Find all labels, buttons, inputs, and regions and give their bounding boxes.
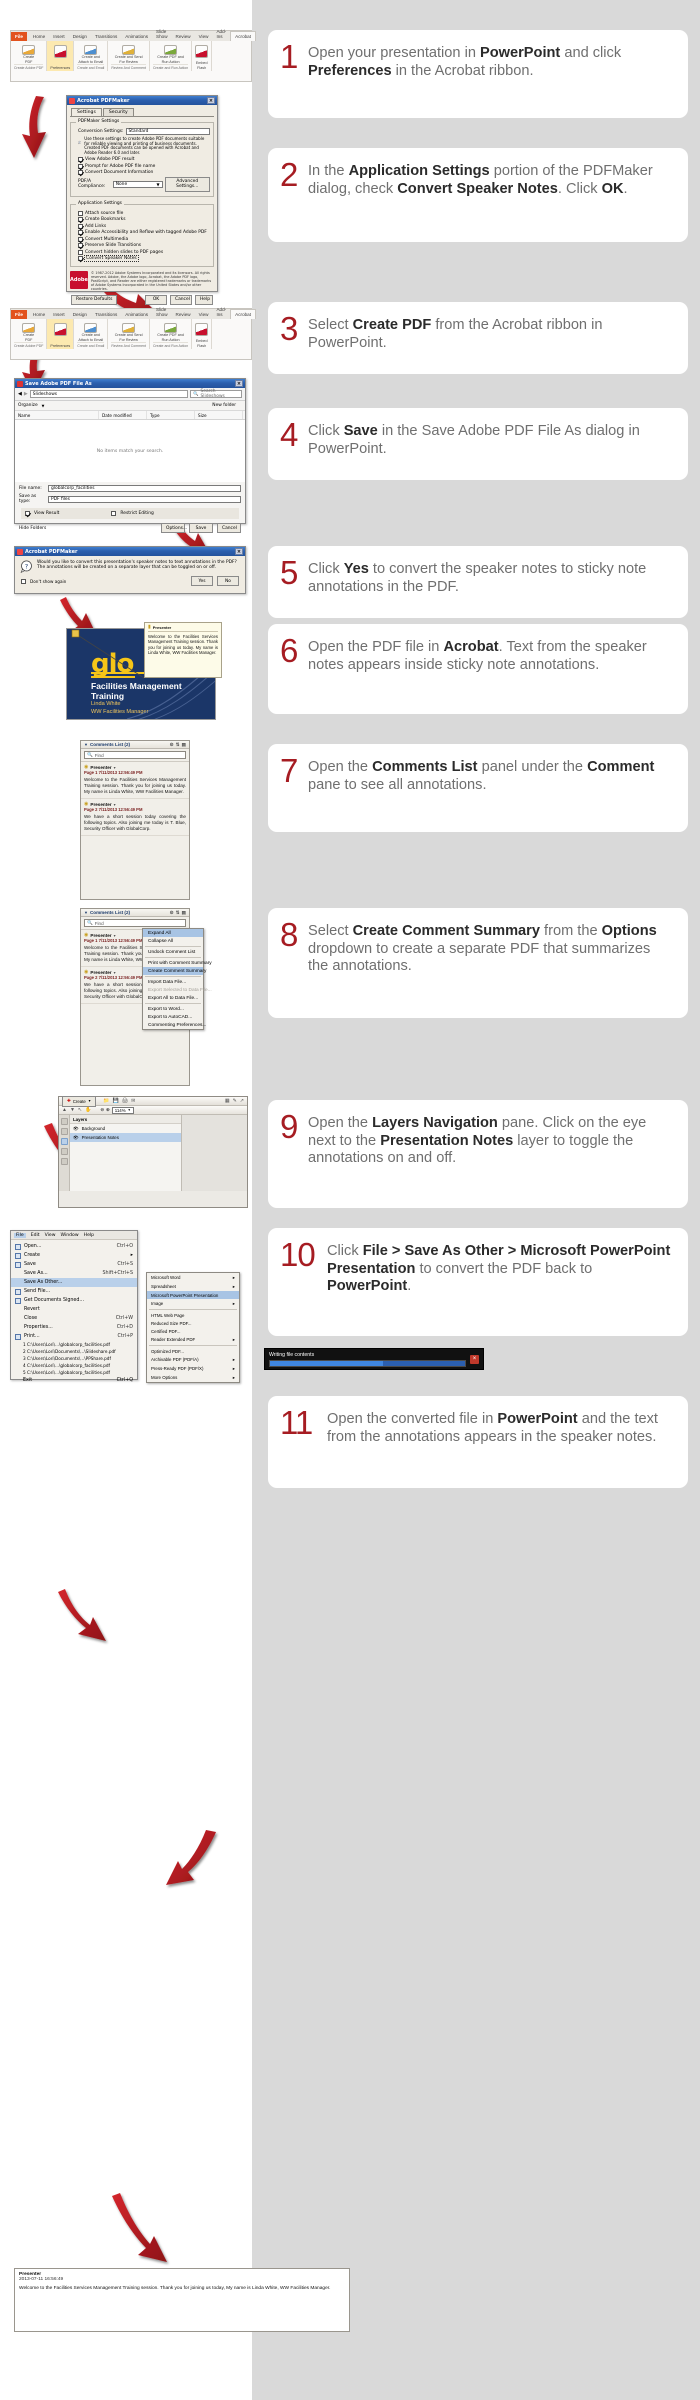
bookmarks-panel-icon[interactable] [61, 1128, 68, 1135]
layers-panel[interactable]: Layers 👁Background👁Presentation Notes [70, 1115, 182, 1191]
menu-item-print-with-comment-summary[interactable]: Print with Comment Summary [143, 959, 203, 967]
explorer-toolbar[interactable]: Organize ▼ New folder [15, 401, 245, 411]
file-menu-item-print[interactable]: Print...Ctrl+P [11, 1332, 137, 1341]
ribbon-tab-design[interactable]: Design [69, 310, 91, 319]
recent-file-item[interactable]: 1 C:\Users\Lori\...\globalcorp_facilitie… [11, 1341, 137, 1348]
comment-author: Presenter [90, 970, 111, 975]
menu-separator [149, 1345, 237, 1346]
submenu-item-html-web-page[interactable]: HTML Web Page [147, 1311, 239, 1319]
menu-item-export-to-autocad[interactable]: Export to AutoCAD... [143, 1013, 203, 1021]
sticky-note-header: ▮ Presenter [148, 625, 218, 632]
open-icon[interactable]: 📁 [103, 1098, 109, 1104]
application-option-7[interactable]: Convert Speaker Notes [78, 256, 210, 261]
ribbon-button-create-pdf-and-run-action[interactable]: Create PDF andRun ActionCreate and Run A… [150, 41, 192, 71]
menu-item-icon [15, 1244, 21, 1250]
back-icon[interactable]: ◀ [18, 391, 22, 397]
ribbon-button-preferences[interactable]: Preferences [47, 319, 74, 349]
recent-file-item[interactable]: 5 C:\Users\Lori\...\globalcorp_facilitie… [11, 1369, 137, 1376]
ribbon-tab-slide-show[interactable]: Slide Show [152, 305, 171, 319]
checkbox[interactable] [78, 250, 83, 255]
menu-item-commenting-preferences[interactable]: Commenting Preferences... [143, 1021, 203, 1029]
acrobat-layers-window[interactable]: ✚ Create ▼ 📁 💾 🖨 ✉ ▦ ✎ ↗ ▲ ▼ ↖ ✋ ⊖ ⊕ 114… [58, 1096, 248, 1208]
restore-defaults-button[interactable]: Restore Defaults [71, 295, 117, 305]
pdfmaker-checkbox-list[interactable]: View Adobe PDF resultPrompt for Adobe PD… [74, 157, 210, 175]
hand-tool-icon[interactable]: ✋ [85, 1107, 91, 1113]
menu-item-label: Get Documents Signed... [24, 1298, 84, 1303]
ribbon-tab-insert[interactable]: Insert [49, 310, 69, 319]
find-input[interactable]: 🔍 Find [84, 919, 186, 927]
application-option-4[interactable]: Convert Multimedia [78, 237, 210, 242]
pdfa-row[interactable]: PDF/A Compliance: None ▼ Advanced Settin… [78, 177, 210, 192]
ribbon-tab-add-ins[interactable]: Add-Ins [212, 305, 230, 319]
save-adobe-pdf-dialog[interactable]: Save Adobe PDF File As × ◀ ▶ Slideshows … [14, 378, 246, 524]
recent-file-item[interactable]: 3 C:\Users\Lori\Documents\...\PPShare.pd… [11, 1355, 137, 1362]
svg-text:?: ? [25, 562, 28, 570]
application-option-1[interactable]: Create Bookmarks [78, 217, 210, 222]
chevron-right-icon: ▸ [233, 1301, 235, 1307]
menubar-item-view[interactable]: View [45, 1233, 56, 1238]
file-menu-item-send-file[interactable]: Send File... [11, 1287, 137, 1296]
submenu-item-microsoft-word[interactable]: Microsoft Word▸ [147, 1273, 239, 1282]
checkbox-label: Prompt for Adobe PDF file name [85, 164, 155, 169]
restrict-editing-checkbox[interactable] [111, 511, 116, 516]
ribbon-tab-design[interactable]: Design [69, 32, 91, 41]
search-input[interactable]: 🔍 Search Slideshows [190, 390, 242, 398]
ribbon-tab-acrobat[interactable]: Acrobat [230, 309, 256, 319]
ribbon-group-caption: Review And Comment [111, 64, 146, 70]
menubar-item-edit[interactable]: Edit [31, 1233, 40, 1238]
submenu-item-reader-extended-pdf[interactable]: Reader Extended PDF▸ [147, 1335, 239, 1344]
submenu-item-optimized-pdf[interactable]: Optimized PDF... [147, 1347, 239, 1355]
chevron-right-icon: ▸ [233, 1284, 235, 1290]
file-menu-item-save-as[interactable]: Save As...Shift+Ctrl+S [11, 1269, 137, 1278]
sort-icon[interactable]: ⇅ [176, 742, 180, 748]
view-result-checkbox[interactable] [25, 511, 30, 516]
ribbon-button-create-pdf[interactable]: CreatePDFCreate Adobe PDF [11, 41, 47, 71]
pdfmaker-option-0[interactable]: View Adobe PDF result [78, 157, 210, 162]
progress-bar [269, 1360, 466, 1367]
pdfa-select[interactable]: None ▼ [113, 181, 163, 188]
submenu-item-certified-pdf[interactable]: Certified PDF... [147, 1327, 239, 1335]
layers-list[interactable]: 👁Background👁Presentation Notes [70, 1124, 181, 1142]
search-icon: 🔍 [87, 920, 93, 926]
cancel-button[interactable]: Cancel [217, 523, 241, 533]
comment-item[interactable]: ◉Presenter▾Page 1 7/11/2013 12:56:49 PMW… [81, 762, 189, 799]
step-callout-5: 5 Click Yes to convert the speaker notes… [268, 546, 688, 618]
file-menu-item-get-documents-signed[interactable]: Get Documents Signed... [11, 1296, 137, 1305]
menu-item-collapse-all[interactable]: Collapse All [143, 937, 203, 945]
acrobat-stage: Layers 👁Background👁Presentation Notes [59, 1115, 247, 1191]
cancel-button[interactable]: Cancel [170, 295, 192, 305]
menu-separator [145, 946, 201, 947]
menu-item-export-all-to-data-file[interactable]: Export All to Data File... [143, 994, 203, 1002]
select-tool-icon[interactable]: ↖ [78, 1107, 82, 1113]
powerpoint-ribbon-top[interactable]: FileHomeInsertDesignTransitionsAnimation… [10, 30, 252, 82]
save-icon[interactable]: 💾 [112, 1098, 118, 1104]
pdf-options-row[interactable]: View Result Restrict Editing [21, 508, 239, 519]
ribbon-tab-review[interactable]: Review [172, 310, 195, 319]
step-callout-6: 6 Open the PDF file in Acrobat. Text fro… [268, 624, 688, 714]
ribbon-button-create-and-attach-to-email[interactable]: Create andAttach to EmailCreate and Emai… [74, 41, 108, 71]
dialog-button-row[interactable]: Restore Defaults OK Cancel Help [71, 295, 213, 305]
acrobat-file-menu-window[interactable]: FileEditViewWindowHelp Open...Ctrl+OCrea… [10, 1230, 138, 1380]
layer-row[interactable]: 👁Background [70, 1124, 181, 1133]
checkbox[interactable] [78, 211, 83, 216]
column-header-name[interactable]: Name [15, 411, 99, 419]
save-as-other-submenu[interactable]: Microsoft Word▸Spreadsheet▸Microsoft Pow… [146, 1272, 240, 1383]
ribbon-tab-acrobat[interactable]: Acrobat [230, 31, 256, 41]
menu-item-shortcut: Ctrl+O [117, 1244, 133, 1249]
pdf-document-icon [54, 323, 67, 336]
print-icon[interactable]: 🖨 [122, 1098, 128, 1104]
comments-toolbar[interactable]: 🔍 Find [81, 749, 189, 762]
no-button[interactable]: No [217, 576, 239, 586]
submenu-item-microsoft-powerpoint-presentation[interactable]: Microsoft PowerPoint Presentation [147, 1291, 239, 1299]
submenu-item-label: Microsoft PowerPoint Presentation [151, 1293, 218, 1298]
submenu-item-image[interactable]: Image▸ [147, 1299, 239, 1308]
recent-file-item[interactable]: 4 C:\Users\Lori\...\globalcorp_facilitie… [11, 1362, 137, 1369]
ribbon-tab-transitions[interactable]: Transitions [91, 32, 121, 41]
dont-show-again-checkbox[interactable] [21, 579, 26, 584]
navigation-rail[interactable] [59, 1115, 70, 1191]
filetype-row[interactable]: Save as type: PDF files [19, 494, 241, 504]
comment-item[interactable]: ◉Presenter▾Page 2 7/11/2013 12:56:49 PMW… [81, 799, 189, 836]
step-text: Open the Layers Navigation pane. Click o… [308, 1112, 674, 1168]
ribbon-button-preferences[interactable]: Preferences [47, 41, 74, 71]
ribbon-button-embed-flash[interactable]: EmbedFlash [192, 41, 212, 71]
pdf-document-icon [54, 45, 67, 58]
ribbon-button-label: Create and SendFor Review [115, 55, 143, 64]
find-input[interactable]: 🔍 Find [84, 751, 186, 759]
ribbon-button-label: CreatePDF [23, 55, 34, 64]
more-icon[interactable]: ▤ [182, 910, 186, 916]
filetype-select[interactable]: PDF files [48, 496, 241, 503]
step-text: Select Create PDF from the Acrobat ribbo… [308, 314, 674, 352]
ribbon-tab-view[interactable]: View [195, 310, 213, 319]
pdf-document-icon [195, 45, 208, 58]
eye-icon[interactable]: 👁 [73, 1126, 79, 1132]
ribbon-buttons[interactable]: CreatePDFCreate Adobe PDFPreferencesCrea… [11, 41, 251, 71]
submenu-item-more-options[interactable]: More Options▸ [147, 1373, 239, 1382]
explorer-address-bar[interactable]: ◀ ▶ Slideshows 🔍 Search Slideshows [15, 388, 245, 401]
ribbon-tab-file[interactable]: File [11, 310, 27, 319]
chevron-down-icon[interactable]: ▼ [84, 910, 88, 915]
file-menu-item-open[interactable]: Open...Ctrl+O [11, 1242, 137, 1251]
menu-item-shortcut: Shift+Ctrl+S [102, 1271, 133, 1276]
filetype-label: Save as type: [19, 494, 45, 504]
help-button[interactable]: Help [195, 295, 213, 305]
ribbon-tab-transitions[interactable]: Transitions [91, 310, 121, 319]
pdf-document-icon [195, 323, 208, 336]
submenu-item-reduced-size-pdf[interactable]: Reduced Size PDF... [147, 1319, 239, 1327]
conversion-settings-select[interactable]: Standard [126, 128, 211, 135]
menu-separator [145, 1003, 201, 1004]
tab-settings[interactable]: Settings [71, 108, 102, 116]
menubar-item-help[interactable]: Help [84, 1233, 94, 1238]
create-button[interactable]: ✚ Create ▼ [62, 1096, 96, 1107]
options-dropdown-menu[interactable]: Expand AllCollapse AllUndock Comment Lis… [142, 928, 204, 1030]
question-icon: ? [20, 560, 33, 573]
filename-row[interactable]: File name: globalcorp_facilities [19, 485, 241, 492]
file-menu-item-revert[interactable]: Revert [11, 1305, 137, 1314]
comments-panel-header[interactable]: ▼ Comments List (2) ⚙ ⇅ ▤ [81, 909, 189, 917]
step-number: 11 [280, 1408, 320, 1438]
checkbox-label: Convert Document Information [85, 170, 153, 175]
submenu-item-label: Microsoft Word [151, 1275, 180, 1280]
column-header-date-modified[interactable]: Date modified [99, 411, 147, 419]
close-icon[interactable]: × [207, 97, 215, 104]
application-checkbox-list[interactable]: Attach source fileCreate BookmarksAdd Li… [74, 211, 210, 262]
chevron-down-icon[interactable]: ▼ [156, 182, 159, 187]
ribbon-button-create-pdf-and-run-action[interactable]: Create PDF andRun ActionCreate and Run A… [150, 319, 192, 349]
submenu-item-spreadsheet[interactable]: Spreadsheet▸ [147, 1282, 239, 1291]
ribbon-group-caption: Create and Run Action [153, 342, 188, 348]
checkbox[interactable] [78, 243, 83, 248]
close-icon[interactable]: × [235, 548, 243, 555]
comments-list[interactable]: ◉Presenter▾Page 1 7/11/2013 12:56:49 PMW… [81, 762, 189, 836]
application-option-5[interactable]: Preserve Slide Transitions [78, 243, 210, 248]
comment-meta: Page 2 7/11/2013 12:56:49 PM [84, 807, 186, 812]
confirm-message: Would you like to convert this presentat… [37, 560, 240, 573]
close-icon[interactable]: × [235, 380, 243, 387]
ribbon-group-caption: Create and Email [77, 64, 104, 70]
page-down-icon[interactable]: ▼ [70, 1107, 75, 1113]
filename-area[interactable]: File name: globalcorp_facilities Save as… [15, 482, 245, 504]
ribbon-button-create-and-send-for-review[interactable]: Create and SendFor ReviewReview And Comm… [108, 319, 150, 349]
checkbox[interactable] [78, 157, 83, 162]
chevron-down-icon[interactable]: ▼ [84, 742, 88, 747]
pdf-document-icon [84, 323, 97, 333]
conversion-settings-row[interactable]: Conversion Settings: Standard [78, 128, 210, 135]
forward-icon[interactable]: ▶ [24, 391, 28, 397]
step-number: 4 [280, 420, 301, 450]
menu-item-label: Save As... [24, 1271, 48, 1276]
menu-item-create-comment-summary[interactable]: Create Comment Summary [143, 967, 203, 975]
search-icon: 🔍 [87, 752, 93, 758]
layers-panel-icon[interactable] [61, 1138, 68, 1145]
sticky-note-icon: ▮ [148, 625, 151, 630]
application-option-0[interactable]: Attach source file [78, 211, 210, 216]
ribbon-button-label: Preferences [50, 66, 70, 70]
checkbox-label: Add Links [85, 224, 106, 229]
column-header-size[interactable]: Size [195, 411, 243, 419]
path-breadcrumb[interactable]: Slideshows [30, 390, 188, 398]
ribbon-tabs[interactable]: FileHomeInsertDesignTransitionsAnimation… [11, 31, 251, 41]
sort-icon[interactable]: ⇅ [176, 910, 180, 916]
recent-file-item[interactable]: 2 C:\Users\Lori\Documents\...\Slideshare… [11, 1348, 137, 1355]
comments-panel-title: Comments List (2) [90, 742, 130, 747]
powerpoint-notes-pane[interactable]: Presenter 2013-07-11 16:56:49 Welcome to… [14, 2268, 350, 2332]
chevron-down-icon[interactable]: ▾ [114, 802, 116, 807]
chevron-down-icon[interactable]: ▼ [128, 1108, 131, 1112]
pdfmaker-option-2[interactable]: Convert Document Information [78, 170, 210, 175]
more-icon[interactable]: ▤ [182, 742, 186, 748]
empty-message: No items match your search. [97, 449, 163, 454]
new-folder-button[interactable]: New folder [212, 403, 236, 408]
ribbon-tab-add-ins[interactable]: Add-Ins [212, 27, 230, 41]
powerpoint-ribbon-create-pdf[interactable]: FileHomeInsertDesignTransitionsAnimation… [10, 308, 252, 360]
path-value: Slideshows [33, 392, 57, 397]
menubar[interactable]: FileEditViewWindowHelp [11, 1231, 137, 1240]
file-menu-item-save[interactable]: SaveCtrl+S [11, 1260, 137, 1269]
notes-timestamp: 2013-07-11 16:56:49 [19, 2277, 345, 2282]
ribbon-tabs[interactable]: FileHomeInsertDesignTransitionsAnimation… [11, 309, 251, 319]
menu-separator [145, 957, 201, 958]
comment-text: Welcome to the Facilities Services Manag… [84, 777, 186, 795]
advanced-settings-button[interactable]: Advanced Settings... [165, 177, 210, 192]
filename-input[interactable]: globalcorp_facilities [48, 485, 241, 492]
ribbon-tab-view[interactable]: View [195, 32, 213, 41]
acrobat-toolbar-top[interactable]: ✚ Create ▼ 📁 💾 🖨 ✉ ▦ ✎ ↗ [59, 1097, 247, 1106]
pdfmaker-dialog[interactable]: Acrobat PDFMaker × Settings Security PDF… [66, 95, 218, 292]
signatures-panel-icon[interactable] [61, 1158, 68, 1165]
menu-item-expand-all[interactable]: Expand All [143, 929, 203, 937]
file-menu-item-create[interactable]: Create▸ [11, 1251, 137, 1260]
step-number: 2 [280, 160, 301, 190]
dialog-tabs[interactable]: Settings Security [67, 105, 217, 116]
ribbon-buttons[interactable]: CreatePDFCreate Adobe PDFPreferencesCrea… [11, 319, 251, 349]
checkbox[interactable] [78, 170, 83, 175]
pdfa-label: PDF/A Compliance: [78, 179, 111, 189]
sign-icon[interactable]: ✎ [233, 1098, 237, 1104]
email-icon[interactable]: ✉ [131, 1098, 135, 1104]
share-icon[interactable]: ↗ [240, 1098, 244, 1104]
checkbox[interactable] [78, 224, 83, 229]
eye-icon[interactable]: 👁 [73, 1135, 79, 1141]
hide-folders-button[interactable]: Hide Folders [19, 526, 46, 531]
ribbon-button-create-pdf[interactable]: CreatePDFCreate Adobe PDF [11, 319, 47, 349]
organize-button[interactable]: Organize [18, 403, 38, 408]
file-menu-item-save-as-other[interactable]: Save As Other... [11, 1278, 137, 1287]
ribbon-group-caption: Create and Run Action [153, 64, 188, 70]
ribbon-tab-home[interactable]: Home [29, 310, 49, 319]
zoom-out-icon[interactable]: ⊖ [100, 1107, 104, 1113]
step-text: Open the converted file in PowerPoint an… [327, 1408, 674, 1446]
ribbon-tab-insert[interactable]: Insert [49, 32, 69, 41]
pdf-document-icon [164, 323, 177, 333]
comments-panel-header[interactable]: ▼ Comments List (2) ⚙ ⇅ ▤ [81, 741, 189, 749]
progress-label: Writing file contents [269, 1352, 466, 1358]
options-icon[interactable]: ⚙ [170, 910, 174, 916]
ribbon-button-label: Preferences [50, 344, 70, 348]
chevron-down-icon[interactable]: ▾ [114, 933, 116, 938]
menubar-item-file[interactable]: File [14, 1233, 26, 1238]
confirm-footer[interactable]: Don't show again Yes No [15, 573, 245, 586]
pages-panel-icon[interactable] [61, 1118, 68, 1125]
ribbon-tab-animations[interactable]: Animations [121, 32, 152, 41]
comment-tools-icon[interactable]: ▦ [225, 1098, 230, 1104]
step-number: 1 [280, 42, 301, 72]
chevron-down-icon[interactable]: ▾ [114, 765, 116, 770]
ribbon-tab-slide-show[interactable]: Slide Show [152, 27, 171, 41]
convert-notes-confirm-dialog[interactable]: Acrobat PDFMaker × ? Would you like to c… [14, 546, 246, 594]
menu-item-label: Save As Other... [24, 1280, 62, 1285]
find-placeholder: Find [95, 921, 104, 926]
save-button[interactable]: Save [189, 523, 213, 533]
ribbon-tab-file[interactable]: File [11, 32, 27, 41]
conversion-settings-label: Conversion Settings: [78, 129, 124, 134]
page-up-icon[interactable]: ▲ [62, 1107, 67, 1113]
application-option-2[interactable]: Add Links [78, 224, 210, 229]
dialog-button-row[interactable]: Hide Folders Options... Save Cancel [19, 523, 241, 533]
dialog-titlebar: Save Adobe PDF File As × [15, 379, 245, 388]
ok-button[interactable]: OK [145, 295, 167, 305]
menu-item-shortcut: Ctrl+D [117, 1325, 133, 1330]
file-menu-item-exit[interactable]: ExitCtrl+Q [11, 1376, 137, 1384]
menu-item-icon [15, 1253, 21, 1259]
sticky-note-popup[interactable]: ▮ Presenter Welcome to the Facilities Se… [144, 622, 222, 678]
submenu-item-label: Spreadsheet [151, 1284, 176, 1289]
checkbox[interactable] [78, 217, 83, 222]
attachments-panel-icon[interactable] [61, 1148, 68, 1155]
options-button[interactable]: Options... [161, 523, 185, 533]
file-menu-item-properties[interactable]: Properties...Ctrl+D [11, 1323, 137, 1332]
chevron-down-icon[interactable]: ▾ [114, 970, 116, 975]
checkbox[interactable] [78, 164, 83, 169]
close-icon[interactable]: × [470, 1355, 479, 1364]
submenu-item-press-ready-pdf-pdf-x[interactable]: Press-Ready PDF (PDF/X)▸ [147, 1364, 239, 1373]
yes-button[interactable]: Yes [191, 576, 213, 586]
comments-list-panel[interactable]: ▼ Comments List (2) ⚙ ⇅ ▤ 🔍 Find ◉Presen… [80, 740, 190, 900]
ribbon-tab-animations[interactable]: Animations [121, 310, 152, 319]
ribbon-tab-home[interactable]: Home [29, 32, 49, 41]
chevron-down-icon[interactable]: ▼ [42, 404, 45, 408]
ribbon-button-create-and-attach-to-email[interactable]: Create andAttach to EmailCreate and Emai… [74, 319, 108, 349]
checkbox[interactable] [78, 256, 83, 261]
column-header-type[interactable]: Type [147, 411, 195, 419]
ribbon-button-create-and-send-for-review[interactable]: Create and SendFor ReviewReview And Comm… [108, 41, 150, 71]
menu-item-import-data-file[interactable]: Import Data File... [143, 978, 203, 986]
writing-file-progress-dialog[interactable]: Writing file contents × [264, 1348, 484, 1370]
layer-row[interactable]: 👁Presentation Notes [70, 1133, 181, 1142]
submenu-item-archivable-pdf-pdf-a[interactable]: Archivable PDF (PDF/A)▸ [147, 1355, 239, 1364]
menu-item-label: Open... [24, 1244, 41, 1249]
menu-item-label: Exit [23, 1378, 32, 1383]
file-menu[interactable]: Open...Ctrl+OCreate▸SaveCtrl+SSave As...… [11, 1240, 137, 1386]
acrobat-icon [17, 549, 23, 555]
menubar-item-window[interactable]: Window [61, 1233, 79, 1238]
options-icon[interactable]: ⚙ [170, 742, 174, 748]
ribbon-tab-review[interactable]: Review [172, 32, 195, 41]
filename-label: File name: [19, 486, 45, 491]
document-view[interactable] [182, 1115, 247, 1191]
chevron-right-icon: ▸ [233, 1337, 235, 1343]
file-menu-item-close[interactable]: CloseCtrl+W [11, 1314, 137, 1323]
comment-meta: Page 1 7/11/2013 12:56:49 PM [84, 770, 186, 775]
ribbon-button-label: CreatePDF [23, 333, 34, 342]
step-text: In the Application Settings portion of t… [308, 160, 674, 198]
step-text: Open the PDF file in Acrobat. Text from … [308, 636, 674, 674]
file-list-header[interactable]: NameDate modifiedTypeSize [15, 411, 245, 420]
pdfmaker-option-1[interactable]: Prompt for Adobe PDF file name [78, 164, 210, 169]
checkbox[interactable] [78, 230, 83, 235]
checkbox[interactable] [78, 237, 83, 242]
step-callout-4: 4 Click Save in the Save Adobe PDF File … [268, 408, 688, 480]
menu-item-export-to-word[interactable]: Export to Word... [143, 1005, 203, 1013]
menu-item-shortcut: Ctrl+P [118, 1334, 133, 1339]
ribbon-button-embed-flash[interactable]: EmbedFlash [192, 319, 212, 349]
chevron-down-icon[interactable]: ▼ [88, 1099, 91, 1103]
file-list[interactable]: No items match your search. [15, 420, 245, 482]
zoom-level-select[interactable]: 114% ▼ [112, 1107, 134, 1114]
zoom-in-icon[interactable]: ⊕ [106, 1107, 110, 1113]
application-option-3[interactable]: Enable Accessibility and Reflow with tag… [78, 230, 210, 235]
menu-item-undock-comment-list[interactable]: Undock Comment List [143, 948, 203, 956]
create-icon: ✚ [67, 1098, 71, 1104]
tab-security[interactable]: Security [103, 108, 134, 116]
application-option-6[interactable]: Convert hidden slides to PDF pages [78, 250, 210, 255]
acrobat-toolbar-page[interactable]: ▲ ▼ ↖ ✋ ⊖ ⊕ 114% ▼ [59, 1106, 247, 1115]
